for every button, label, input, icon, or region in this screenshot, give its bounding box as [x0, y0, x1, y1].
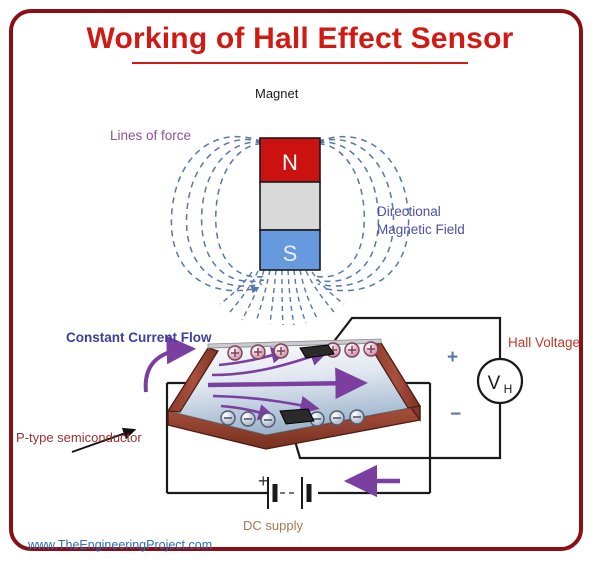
current-symbol-label: i: [368, 470, 371, 486]
footer-url: www.TheEngineeringProject.com: [28, 538, 212, 552]
dc-supply-label: DC supply: [243, 518, 303, 533]
charge-plus: [364, 342, 378, 356]
charge-minus: [241, 412, 255, 426]
p-type-semiconductor-label: P-type semiconductor: [16, 430, 142, 445]
charge-minus: [221, 411, 235, 425]
battery-symbol: [268, 477, 309, 509]
voltmeter-plus-sign: +: [447, 347, 458, 369]
magnet-north-label: N: [282, 150, 298, 175]
charge-plus: [228, 346, 242, 360]
directional-field-label-line2: Magnetic Field: [377, 222, 465, 237]
charge-minus: [350, 410, 364, 424]
sensor-plate: [168, 339, 420, 449]
battery-plus-sign: +: [258, 471, 269, 492]
hall-voltage-label: Hall Voltage: [508, 335, 580, 350]
magnet-caption: Magnet: [255, 86, 298, 101]
charge-plus: [345, 343, 359, 357]
directional-field-label-line1: Directional: [377, 204, 441, 219]
field-fan-group: [220, 270, 344, 325]
diagram-canvas: Working of Hall Effect Sensor: [0, 0, 600, 568]
contact-pad-bottom: [280, 409, 314, 424]
voltmeter-minus-sign: −: [450, 404, 461, 426]
diagram-artwork: N S: [0, 0, 600, 568]
magnet-bar: N S: [260, 138, 320, 270]
voltmeter: V H: [478, 359, 522, 403]
charge-minus: [330, 411, 344, 425]
voltmeter-subscript: H: [504, 382, 513, 396]
voltmeter-symbol: V: [488, 373, 501, 394]
charge-minus: [261, 413, 275, 427]
charge-plus: [274, 344, 288, 358]
magnet-south-label: S: [283, 241, 298, 266]
lines-of-force-label: Lines of force: [110, 128, 191, 143]
charge-plus: [251, 345, 265, 359]
constant-current-flow-label: Constant Current Flow: [66, 330, 212, 345]
